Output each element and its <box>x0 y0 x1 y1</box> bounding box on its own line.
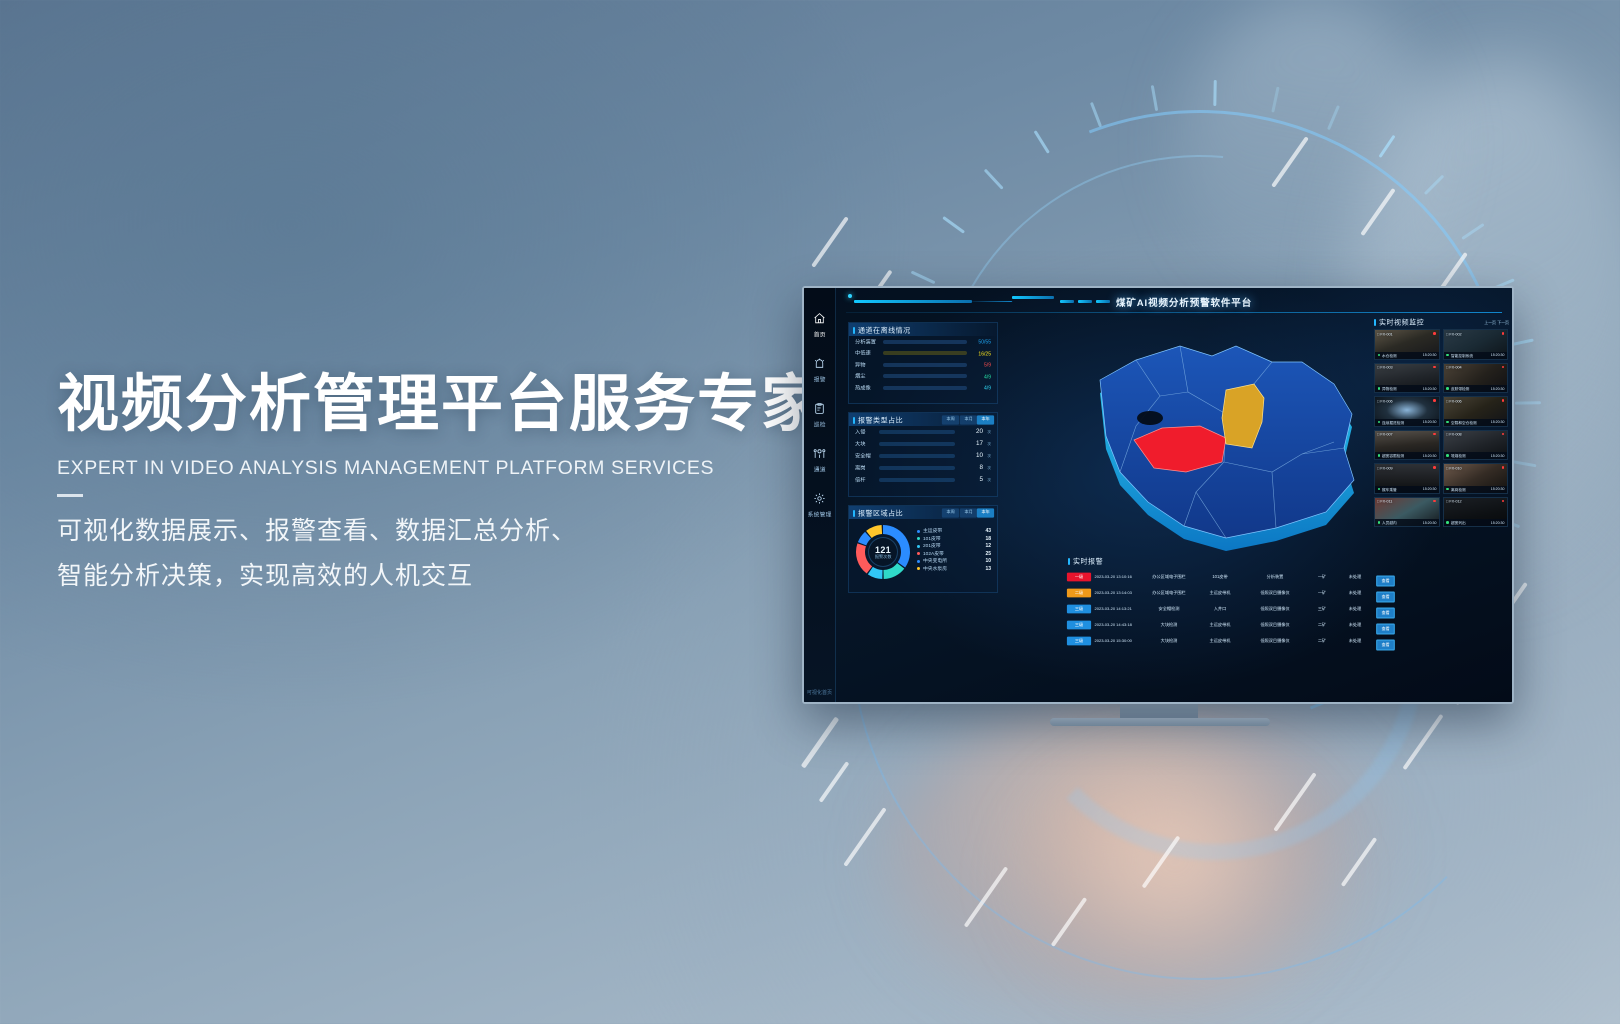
donut-center: 121 报警次数 <box>868 537 898 567</box>
time-range-option[interactable]: 本年 <box>977 416 994 425</box>
video-timestamp: 15:20:30 <box>1491 487 1505 491</box>
ring-tick <box>1151 85 1158 111</box>
alarm-mine: 二矿 <box>1304 622 1339 628</box>
video-timestamp: 15:20:30 <box>1491 386 1505 390</box>
alarm-status: 未处理 <box>1336 638 1373 644</box>
video-tile[interactable]: □ FX-010离岗检测15:20:30 <box>1443 463 1509 494</box>
video-channel-name: 猴车乘管 <box>1382 486 1397 492</box>
video-tile[interactable]: □ FX-003异物检测15:20:30 <box>1374 363 1440 394</box>
time-range-option[interactable]: 本月 <box>959 509 976 518</box>
alarm-location: 主运皮带机 <box>1194 638 1247 644</box>
header-accent-bar-1 <box>854 300 972 303</box>
legend-color-dot <box>917 545 920 548</box>
panel-title: 报警类型占比 <box>858 415 903 425</box>
donut-slice[interactable] <box>862 535 868 544</box>
channel-status-bar-list: 分析装置50/55中低速16/25异物5/9烟尘4/9热成像4/9 <box>849 336 997 394</box>
alarm-mine: 一矿 <box>1304 574 1339 580</box>
legend-color-dot <box>917 560 920 563</box>
background-light-streak-top <box>1180 0 1440 300</box>
video-timestamp: 15:20:30 <box>1491 520 1505 524</box>
alarm-type-row: 离岗8次 <box>849 462 997 474</box>
alarm-mine: 二矿 <box>1304 638 1339 644</box>
ring-tick <box>1424 175 1445 196</box>
video-timestamp: 15:20:30 <box>1491 420 1505 424</box>
background-hand-blur-large <box>880 700 1400 1024</box>
alarm-type-label: 安全帽 <box>855 452 880 460</box>
recording-indicator-icon <box>1502 466 1505 469</box>
online-status-dot-icon <box>1446 387 1449 390</box>
video-channel-name: 空载和空仓检测 <box>1451 419 1477 425</box>
alarm-location: 101皮带 <box>1194 574 1247 580</box>
next-page-button[interactable]: 下一页 <box>1497 319 1509 325</box>
sidebar-item-alarm[interactable]: 报警 <box>804 357 836 383</box>
channel-label: 异物 <box>855 361 885 369</box>
video-tile[interactable]: □ FX-008堆煤检测15:20:30 <box>1443 430 1509 461</box>
video-channel-name: 智能控制系统 <box>1451 352 1473 358</box>
alarm-level-badge: 三级 <box>1067 605 1091 614</box>
panel-header: 报警类型占比 本周本月本年 <box>849 413 997 426</box>
video-channel-id: □ FX-003 <box>1377 365 1393 370</box>
ring-tick <box>1034 130 1050 154</box>
online-status-dot-icon <box>1446 488 1449 491</box>
sidebar-item-label: 通道 <box>814 466 826 474</box>
decorative-slash <box>1402 714 1443 770</box>
legend-label: 101皮带 <box>923 535 994 542</box>
background-hand-blur-small <box>1010 760 1340 1010</box>
province-map[interactable] <box>1076 322 1376 552</box>
legend-label: 201皮带 <box>923 542 994 549</box>
video-timestamp: 15:20:30 <box>1491 453 1505 457</box>
alarm-device: 低照双目摄像仪 <box>1241 590 1309 596</box>
alarm-mine: 一矿 <box>1304 590 1339 596</box>
ring-tick <box>1090 102 1102 127</box>
ring-tick <box>1213 80 1216 106</box>
donut-legend: 主运皮带43101皮带18201皮带12102A皮带25中央变电所10中央水泵房… <box>917 524 991 580</box>
video-tile[interactable]: □ FX-011人员越内15:20:30 <box>1374 497 1440 528</box>
monitor-stand-base <box>1050 718 1270 726</box>
alarm-type-row: 倍杆5次 <box>849 474 997 486</box>
alarm-type-value: 17 <box>958 441 983 447</box>
header-accent-bar-4 <box>1078 300 1092 303</box>
online-status-dot-icon <box>1378 421 1381 424</box>
header-accent-dot <box>848 294 852 298</box>
video-channel-id: □ FX-010 <box>1446 466 1462 471</box>
channel-status-row: 分析装置50/55 <box>849 336 997 348</box>
channel-icon <box>813 447 826 465</box>
alarm-mine: 三矿 <box>1304 606 1339 612</box>
alarm-type-bar-track <box>879 454 955 458</box>
accent-tick-icon <box>853 417 855 424</box>
ring-tick <box>1515 401 1541 404</box>
legend-row: 101皮带18 <box>917 536 991 542</box>
channel-bar-track <box>883 351 967 355</box>
video-channel-id: □ FX-007 <box>1377 432 1393 437</box>
sidebar-item-label: 系统管理 <box>808 511 832 519</box>
video-channel-id: □ FX-006 <box>1446 399 1462 404</box>
ring-tick <box>1271 87 1279 113</box>
alarm-device: 低照双目摄像仪 <box>1241 606 1309 612</box>
dashboard-sidebar: 首页 报警 巡检 通道 <box>804 288 836 702</box>
panel-channel-status: 通道在离线情况 分析装置50/55中低速16/25异物5/9烟尘4/9热成像4/… <box>848 322 998 404</box>
table-row: 三级2023-03-20 14:43:18大块检测主运皮带机低照双目摄像仪二矿未… <box>1064 617 1404 633</box>
legend-row: 102A皮带25 <box>917 551 991 557</box>
alarm-type-row: 安全帽10次 <box>849 450 997 462</box>
ring-tick <box>984 169 1004 190</box>
online-status-dot-icon <box>1446 454 1449 457</box>
video-tile[interactable]: □ FX-002智能控制系统15:20:30 <box>1443 329 1509 360</box>
alarm-status: 未处理 <box>1336 606 1373 612</box>
legend-label: 中央水泵房 <box>923 565 994 572</box>
sidebar-item-channel[interactable]: 通道 <box>804 447 836 473</box>
recording-indicator-icon <box>1502 366 1505 369</box>
recording-indicator-icon <box>1433 399 1436 402</box>
alarm-type-value: 10 <box>958 453 983 459</box>
hero-description-line-2: 智能分析决策，实现高效的人机交互 <box>57 554 817 600</box>
page-subtitle: EXPERT IN VIDEO ANALYSIS MANAGEMENT PLAT… <box>57 457 817 480</box>
video-pager[interactable]: 上一页 下一页 <box>1485 320 1508 325</box>
video-channel-name: 皮肤带检测 <box>1451 386 1469 392</box>
panel-alarm-area: 报警区域占比 本周本月本年 121 报警次数 主运皮带43101皮带18201皮… <box>848 505 998 593</box>
hero-text-block: 视频分析管理平台服务专家 EXPERT IN VIDEO ANALYSIS MA… <box>57 372 817 600</box>
dashboard-header: 煤矿AI视频分析预警软件平台 <box>836 288 1512 318</box>
recording-indicator-icon <box>1433 500 1436 503</box>
header-accent-bar-2 <box>1012 296 1054 299</box>
channel-label: 中低速 <box>855 350 885 358</box>
legend-label: 中央变电所 <box>923 557 994 564</box>
video-channel-name: 超宽容限检测 <box>1382 453 1404 459</box>
time-range-option[interactable]: 本周 <box>942 509 959 518</box>
video-channel-name: 堆煤检测 <box>1451 453 1466 459</box>
video-timestamp: 15:20:30 <box>1422 453 1436 457</box>
channel-label: 分析装置 <box>855 338 885 346</box>
alarm-type-bar-track <box>879 466 955 470</box>
alarm-status: 未处理 <box>1336 622 1373 628</box>
online-status-dot-icon <box>1378 521 1381 524</box>
gear-icon <box>813 492 826 510</box>
alarm-device: 低照双目摄像仪 <box>1241 638 1309 644</box>
online-status-dot-icon <box>1446 521 1449 524</box>
clipboard-icon <box>813 402 826 420</box>
alarm-type: 大块检测 <box>1139 638 1198 644</box>
donut-ring: 121 报警次数 <box>855 524 911 580</box>
channel-label: 烟尘 <box>855 373 885 381</box>
alarm-table-body: 一级2023-03-20 13:10:16办公区域电子围栏101皮带分析装置一矿… <box>1064 569 1404 649</box>
video-channel-id: □ FX-009 <box>1377 466 1393 471</box>
channel-status-row: 异物5/9 <box>849 359 997 371</box>
alarm-type-bar-track <box>879 442 955 446</box>
channel-value: 4/9 <box>967 385 991 391</box>
ring-tick <box>1510 460 1536 467</box>
alarm-type: 办公区域电子围栏 <box>1139 574 1198 580</box>
time-range-option[interactable]: 本月 <box>959 416 976 425</box>
dashboard-root: 首页 报警 巡检 通道 <box>804 288 1512 702</box>
channel-value: 5/9 <box>967 362 991 368</box>
video-channel-id: □ FX-011 <box>1377 499 1392 504</box>
alarm-location: 入井口 <box>1194 606 1247 612</box>
legend-color-dot <box>917 567 920 570</box>
video-channel-name: 人员越内 <box>1382 520 1397 526</box>
channel-bar-track <box>883 340 967 344</box>
alarm-type: 办公区域电子围栏 <box>1139 590 1198 596</box>
home-icon <box>813 312 826 330</box>
video-channel-id: □ FX-004 <box>1446 365 1462 370</box>
recording-indicator-icon <box>1433 366 1436 369</box>
alarm-type-value: 5 <box>958 477 983 483</box>
panel-header: 通道在离线情况 <box>849 323 997 336</box>
prev-page-button[interactable]: 上一页 <box>1484 319 1496 325</box>
alarm-level-badge: 一级 <box>1067 573 1091 582</box>
channel-value: 50/55 <box>967 339 991 345</box>
online-status-dot-icon <box>1378 387 1381 390</box>
alarm-type-bar-list: 入侵20次大块17次安全帽10次离岗8次倍杆5次 <box>849 426 997 486</box>
dashboard-body: 煤矿AI视频分析预警软件平台 通道在离线情况 分析装置50/55中低速16/25… <box>836 288 1512 702</box>
table-row: 一级2023-03-20 13:10:16办公区域电子围栏101皮带分析装置一矿… <box>1064 569 1404 585</box>
video-tile[interactable]: □ FX-006连续掘进检测15:20:30 <box>1374 396 1440 427</box>
alarm-status: 未处理 <box>1336 574 1373 580</box>
alarm-level-badge: 三级 <box>1067 621 1091 630</box>
donut-slice[interactable] <box>869 530 882 535</box>
legend-label: 102A皮带 <box>923 550 994 557</box>
video-tile[interactable]: □ FX-006空载和空仓检测15:20:30 <box>1443 396 1509 427</box>
video-channel-id: □ FX-002 <box>1446 332 1462 337</box>
ring-tick <box>1379 135 1396 158</box>
decorative-slash <box>843 807 886 867</box>
hero-description-line-1: 可视化数据展示、报警查看、数据汇总分析、 <box>57 509 817 555</box>
time-range-segmented-control[interactable]: 本周本月本年 <box>943 509 993 517</box>
recording-indicator-icon <box>1502 500 1505 503</box>
sidebar-item-label: 首页 <box>814 331 826 339</box>
recording-indicator-icon <box>1433 466 1436 469</box>
alarm-area-donut-chart: 121 报警次数 主运皮带43101皮带18201皮带12102A皮带25中央变… <box>849 519 997 580</box>
channel-bar-track <box>883 386 967 390</box>
online-status-dot-icon <box>1446 421 1449 424</box>
accent-tick-icon <box>853 510 855 517</box>
decorative-slash <box>1051 897 1088 947</box>
legend-row: 中央变电所10 <box>917 558 991 564</box>
video-channel-name: 水仓检测 <box>1382 352 1397 358</box>
alarm-status: 未处理 <box>1336 590 1373 596</box>
channel-bar-track <box>883 363 967 367</box>
time-range-segmented-control[interactable]: 本周本月本年 <box>943 416 993 424</box>
alarm-type-row: 入侵20次 <box>849 426 997 438</box>
video-timestamp: 15:20:30 <box>1422 520 1436 524</box>
decorative-slash <box>964 866 1009 927</box>
alarm-location: 主运皮带机 <box>1194 622 1247 628</box>
video-timestamp: 15:20:30 <box>1422 487 1436 491</box>
alarm-type-label: 大块 <box>855 440 880 448</box>
alarm-icon <box>813 357 826 375</box>
online-status-dot-icon <box>1446 354 1449 357</box>
sidebar-footer-label: 可视化首页 <box>807 689 832 696</box>
legend-color-dot <box>917 537 920 540</box>
video-tile-grid: □ FX-001水仓检测15:20:30□ FX-002智能控制系统15:20:… <box>1370 329 1512 531</box>
panel-title: 报警区域占比 <box>858 508 903 518</box>
panel-title: 实时报警 <box>1073 556 1103 566</box>
panel-realtime-alarm: 实时报警 一级2023-03-20 13:10:16办公区域电子围栏101皮带分… <box>1064 554 1404 672</box>
accent-tick-icon <box>1374 319 1376 326</box>
alarm-type-value: 8 <box>958 465 983 471</box>
legend-color-dot <box>917 552 920 555</box>
online-status-dot-icon <box>1378 488 1381 491</box>
alarm-type-label: 入侵 <box>855 428 880 436</box>
alarm-type-row: 大块17次 <box>849 438 997 450</box>
alarm-type: 安全帽检测 <box>1139 606 1198 612</box>
video-channel-name: 离岗检测 <box>1451 486 1466 492</box>
panel-title: 通道在离线情况 <box>858 325 911 335</box>
channel-status-row: 烟尘4/9 <box>849 371 997 383</box>
video-tile[interactable]: □ FX-007超宽容限检测15:20:30 <box>1374 430 1440 461</box>
channel-label: 热成像 <box>855 384 885 392</box>
header-accent-bar-5 <box>1096 300 1110 303</box>
online-status-dot-icon <box>1378 354 1381 357</box>
decorative-slash <box>1341 837 1378 887</box>
ring-tick <box>911 271 936 285</box>
recording-indicator-icon <box>1433 332 1436 335</box>
decorative-slash <box>811 216 849 267</box>
alarm-type-bar-track <box>879 478 955 482</box>
legend-label: 主运皮带 <box>923 527 994 534</box>
legend-color-dot <box>917 530 920 533</box>
video-timestamp: 15:20:30 <box>1491 353 1505 357</box>
channel-value: 16/25 <box>967 350 991 356</box>
channel-status-row: 中低速16/25 <box>849 348 997 360</box>
alarm-level-badge: 二级 <box>1067 589 1091 598</box>
video-tile[interactable]: □ FX-012超宽列出15:20:30 <box>1443 497 1509 528</box>
recording-indicator-icon <box>1502 433 1505 436</box>
alarm-type: 大块检测 <box>1139 622 1198 628</box>
alarm-type-unit: 次 <box>987 466 991 471</box>
page-title: 视频分析管理平台服务专家 <box>57 372 817 439</box>
alarm-type-unit: 次 <box>987 478 991 483</box>
sidebar-item-label: 报警 <box>814 376 826 384</box>
donut-slice[interactable] <box>870 571 882 575</box>
monitor-frame: 首页 报警 巡检 通道 <box>802 286 1514 704</box>
video-channel-name: 连续掘进检测 <box>1382 419 1404 425</box>
panel-header: 报警区域占比 本周本月本年 <box>849 506 997 519</box>
online-status-dot-icon <box>1378 454 1381 457</box>
video-channel-name: 超宽列出 <box>1451 520 1466 526</box>
video-tile[interactable]: □ FX-009猴车乘管15:20:30 <box>1374 463 1440 494</box>
legend-row: 201皮带12 <box>917 543 991 549</box>
decorative-slash <box>1360 188 1395 236</box>
alarm-type-unit: 次 <box>987 430 991 435</box>
channel-value: 4/9 <box>967 373 991 379</box>
ring-tick <box>942 216 965 234</box>
channel-bar-track <box>883 374 967 378</box>
video-channel-id: □ FX-012 <box>1446 499 1462 504</box>
table-row: 二级2023-03-20 13:14:03办公区域电子围栏主运皮带机低照双目摄像… <box>1064 585 1404 601</box>
sidebar-item-system-management[interactable]: 系统管理 <box>804 492 836 518</box>
video-channel-id: □ FX-001 <box>1377 332 1393 337</box>
decorative-slash <box>819 761 850 803</box>
decorative-slash <box>801 716 840 768</box>
header-accent-bar-3 <box>1060 300 1074 303</box>
alarm-type-label: 离岗 <box>855 464 880 472</box>
divider-rule <box>57 494 83 497</box>
ring-tick <box>1327 105 1340 130</box>
video-timestamp: 15:20:30 <box>1422 420 1436 424</box>
recording-indicator-icon <box>1502 399 1505 402</box>
donut-total-value: 121 <box>875 545 891 555</box>
video-timestamp: 15:20:30 <box>1422 353 1436 357</box>
recording-indicator-icon <box>1502 332 1505 335</box>
panel-header: 实时报警 <box>1064 554 1404 569</box>
decorative-slash <box>1142 835 1181 888</box>
alarm-device: 分析装置 <box>1241 574 1309 580</box>
recording-indicator-icon <box>1433 433 1436 436</box>
video-tile[interactable]: □ FX-004皮肤带检测15:20:30 <box>1443 363 1509 394</box>
accent-tick-icon <box>853 327 855 334</box>
alarm-level-badge: 三级 <box>1067 637 1091 646</box>
decorative-slash <box>1273 772 1316 832</box>
header-accent-line <box>972 301 1013 302</box>
alarm-type-unit: 次 <box>987 454 991 459</box>
map-svg <box>1076 322 1376 552</box>
table-row: 三级2023-03-20 15:30:00大块检测主运皮带机低照双目摄像仪二矿未… <box>1064 633 1404 649</box>
dashboard-title: 煤矿AI视频分析预警软件平台 <box>1116 295 1252 309</box>
alarm-type-value: 20 <box>958 429 983 435</box>
sidebar-item-inspection[interactable]: 巡检 <box>804 402 836 428</box>
panel-header: 实时视频监控 上一页 下一页 <box>1370 316 1512 329</box>
channel-status-row: 热成像4/9 <box>849 382 997 394</box>
decorative-slash <box>1271 136 1309 187</box>
alarm-device: 低照双目摄像仪 <box>1241 622 1309 628</box>
header-underline <box>846 312 1502 313</box>
donut-total-caption: 报警次数 <box>875 554 892 560</box>
time-range-option[interactable]: 本周 <box>942 416 959 425</box>
time-range-option[interactable]: 本年 <box>977 509 994 518</box>
video-channel-name: 异物检测 <box>1382 386 1397 392</box>
alarm-type-bar-track <box>879 430 955 434</box>
legend-row: 主运皮带43 <box>917 528 991 534</box>
map-lake <box>1137 411 1163 425</box>
legend-row: 中央水泵房13 <box>917 566 991 572</box>
sidebar-item-label: 巡检 <box>814 421 826 429</box>
sidebar-item-home[interactable]: 首页 <box>804 312 836 338</box>
donut-slice[interactable] <box>884 566 901 575</box>
ring-tick <box>1461 223 1484 240</box>
video-channel-id: □ FX-006 <box>1377 399 1393 404</box>
panel-alarm-types: 报警类型占比 本周本月本年 入侵20次大块17次安全帽10次离岗8次倍杆5次 <box>848 412 998 497</box>
video-channel-id: □ FX-008 <box>1446 432 1462 437</box>
alarm-location: 主运皮带机 <box>1194 590 1247 596</box>
alarm-type-label: 倍杆 <box>855 476 880 484</box>
video-timestamp: 15:20:30 <box>1422 386 1436 390</box>
alarm-type-unit: 次 <box>987 442 991 447</box>
table-row: 三级2023-03-20 14:13:21安全帽检测入井口低照双目摄像仪三矿未处… <box>1064 601 1404 617</box>
panel-video-monitor: 实时视频监控 上一页 下一页 □ FX-001水仓检测15:20:30□ FX-… <box>1370 316 1512 702</box>
accent-tick-icon <box>1068 558 1070 565</box>
video-tile[interactable]: □ FX-001水仓检测15:20:30 <box>1374 329 1440 360</box>
panel-title: 实时视频监控 <box>1379 317 1424 327</box>
